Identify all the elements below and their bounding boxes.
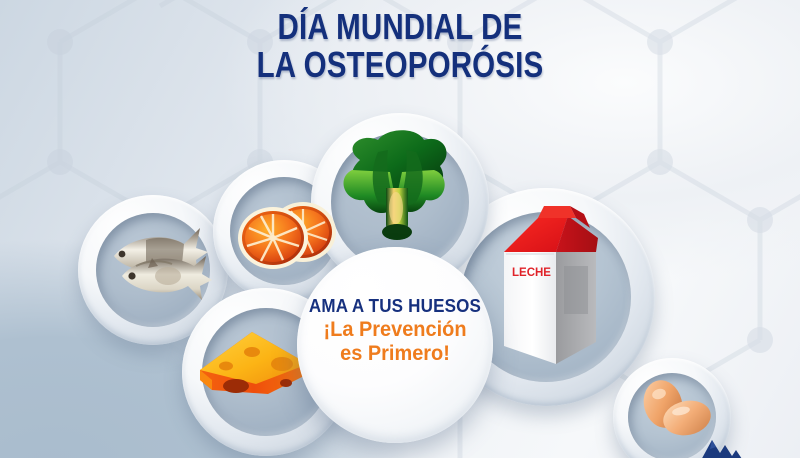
slogan-text: AMA A TUS HUESOS ¡La Prevención es Prime… bbox=[297, 295, 493, 366]
poster-canvas: DÍA MUNDIAL DE LA OSTEOPORÓSIS bbox=[0, 0, 800, 458]
slogan-line-2: ¡La Prevención bbox=[302, 318, 488, 342]
orange-icon bbox=[229, 200, 345, 272]
broccoli-icon bbox=[330, 126, 458, 244]
mountain-logo-mark[interactable] bbox=[698, 436, 744, 458]
slogan-line-1: AMA A TUS HUESOS bbox=[305, 295, 485, 316]
fish-icon bbox=[96, 218, 212, 310]
milk-carton-label: LECHE bbox=[512, 267, 551, 279]
milk-carton-icon: LECHE bbox=[498, 196, 606, 368]
eggs-icon bbox=[633, 378, 715, 442]
slogan-disc: AMA A TUS HUESOS ¡La Prevención es Prime… bbox=[297, 247, 493, 443]
slogan-line-3: es Primero! bbox=[302, 342, 488, 366]
